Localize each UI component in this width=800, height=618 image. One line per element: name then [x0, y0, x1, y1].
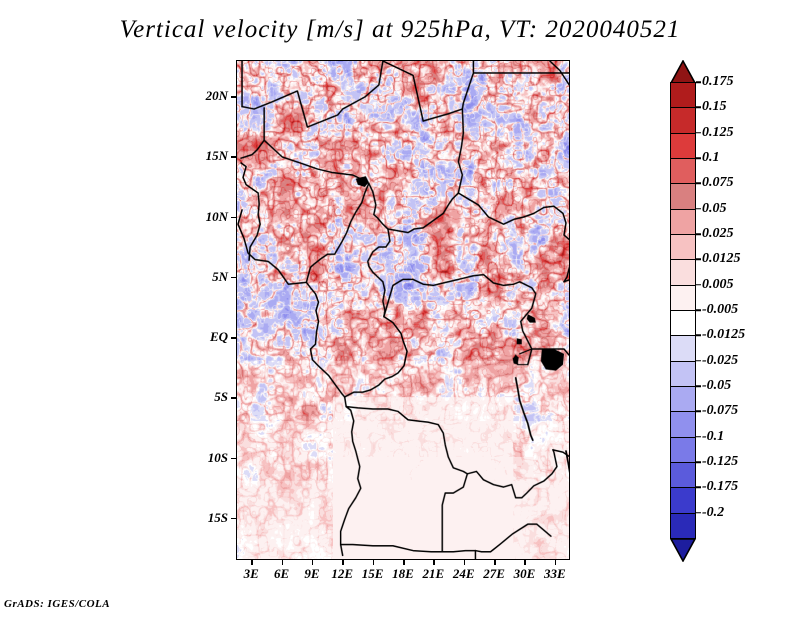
- colorbar-band: [670, 411, 696, 438]
- colorbar-tick-label: -0.005: [702, 302, 738, 318]
- x-axis-tick-label: 33E: [535, 566, 575, 582]
- colorbar-tick-label: -0.1: [702, 429, 724, 445]
- colorbar-band: [670, 259, 696, 286]
- colorbar-band: [670, 437, 696, 464]
- x-axis-tick-mark: [342, 560, 344, 565]
- colorbar-tick-label: -0.0125: [702, 327, 745, 343]
- y-axis-tick-label: EQ: [168, 329, 228, 345]
- colorbar-band: [670, 133, 696, 160]
- x-axis-tick-mark: [464, 560, 466, 565]
- x-axis-tick-mark: [373, 560, 375, 565]
- colorbar-tick-mark: [696, 461, 701, 463]
- colorbar-tick-label: 0.025: [702, 226, 734, 242]
- colorbar-tick-mark: [696, 233, 701, 235]
- colorbar-band: [670, 285, 696, 312]
- x-axis-tick-mark: [251, 560, 253, 565]
- colorbar-band: [670, 487, 696, 514]
- colorbar-tick-label: 0.175: [702, 74, 734, 90]
- y-axis-tick-mark: [231, 337, 236, 339]
- y-axis-tick-mark: [231, 397, 236, 399]
- colorbar-band: [670, 462, 696, 489]
- colorbar-tick-label: -0.025: [702, 353, 738, 369]
- colorbar-tick-label: -0.2: [702, 505, 724, 521]
- y-axis-tick-mark: [231, 217, 236, 219]
- y-axis-tick-label: 20N: [168, 88, 228, 104]
- colorbar-band: [670, 107, 696, 134]
- x-axis-tick-mark: [524, 560, 526, 565]
- colorbar-tick-mark: [696, 157, 701, 159]
- y-axis-tick-label: 5N: [168, 269, 228, 285]
- colorbar-tick-label: -0.175: [702, 479, 738, 495]
- y-axis-tick-mark: [231, 96, 236, 98]
- colorbar-tick-mark: [696, 208, 701, 210]
- y-axis-tick-label: 15N: [168, 148, 228, 164]
- colorbar-tick-label: -0.125: [702, 454, 738, 470]
- y-axis-tick-mark: [231, 156, 236, 158]
- colorbar-band: [670, 158, 696, 185]
- colorbar-tick-mark: [696, 132, 701, 134]
- x-axis-tick-mark: [312, 560, 314, 565]
- colorbar-tick-label: 0.0125: [702, 251, 741, 267]
- colorbar-tick-label: 0.005: [702, 277, 734, 293]
- colorbar-tick-mark: [696, 360, 701, 362]
- colorbar-tick-mark: [696, 107, 701, 109]
- colorbar: [670, 60, 696, 560]
- colorbar-band: [670, 82, 696, 109]
- map-plot-area: [236, 60, 570, 560]
- colorbar-tick-label: 0.1: [702, 150, 720, 166]
- colorbar-tick-mark: [696, 411, 701, 413]
- x-axis-tick-mark: [282, 560, 284, 565]
- colorbar-tick-mark: [696, 284, 701, 286]
- colorbar-band: [670, 513, 696, 540]
- colorbar-tick-mark: [696, 385, 701, 387]
- colorbar-tick-mark: [696, 335, 701, 337]
- colorbar-band: [670, 335, 696, 362]
- colorbar-tick-mark: [696, 259, 701, 261]
- y-axis-tick-mark: [231, 277, 236, 279]
- colorbar-tick-label: 0.075: [702, 175, 734, 191]
- colorbar-tick-mark: [696, 512, 701, 514]
- colorbar-arrow-bottom: [670, 538, 696, 562]
- y-axis-tick-label: 5S: [168, 389, 228, 405]
- vertical-velocity-field: [237, 61, 569, 559]
- x-axis-tick-mark: [433, 560, 435, 565]
- y-axis-tick-label: 15S: [168, 510, 228, 526]
- colorbar-tick-label: 0.05: [702, 201, 727, 217]
- colorbar-band: [670, 310, 696, 337]
- colorbar-arrow-top: [670, 60, 696, 84]
- colorbar-tick-label: 0.125: [702, 125, 734, 141]
- colorbar-tick-mark: [696, 309, 701, 311]
- footer-credit: GrADS: IGES/COLA: [4, 598, 110, 610]
- colorbar-tick-mark: [696, 81, 701, 83]
- colorbar-tick-label: 0.15: [702, 99, 727, 115]
- y-axis-tick-mark: [231, 518, 236, 520]
- y-axis-tick-label: 10S: [168, 450, 228, 466]
- colorbar-tick-mark: [696, 487, 701, 489]
- x-axis-tick-mark: [403, 560, 405, 565]
- x-axis-tick-mark: [494, 560, 496, 565]
- page-title: Vertical velocity [m/s] at 925hPa, VT: 2…: [0, 16, 800, 44]
- colorbar-band: [670, 183, 696, 210]
- colorbar-band: [670, 361, 696, 388]
- colorbar-band: [670, 209, 696, 236]
- colorbar-tick-label: -0.05: [702, 378, 731, 394]
- y-axis-tick-mark: [231, 458, 236, 460]
- x-axis-tick-mark: [555, 560, 557, 565]
- colorbar-tick-label: -0.075: [702, 403, 738, 419]
- y-axis-tick-label: 10N: [168, 209, 228, 225]
- colorbar-tick-mark: [696, 183, 701, 185]
- colorbar-band: [670, 234, 696, 261]
- colorbar-tick-mark: [696, 436, 701, 438]
- colorbar-band: [670, 386, 696, 413]
